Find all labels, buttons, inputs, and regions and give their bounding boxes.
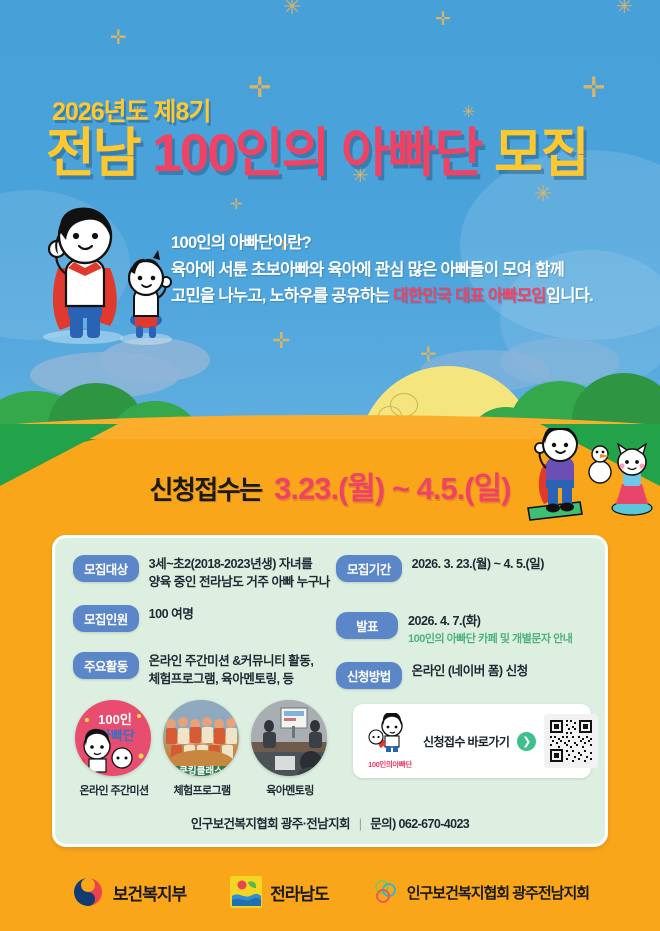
sparkle-icon: ✛: [230, 197, 243, 212]
info-row: 발표 2026. 4. 7.(화) 100인의 아빠단 카페 및 개별문자 안내: [336, 612, 605, 648]
mini-mascot-logo: 100인의아빠단: [365, 713, 415, 770]
info-row: 모집기간 2026. 3. 23.(월) ~ 4. 5.(일): [336, 555, 605, 582]
dad-and-child-icon: [36, 206, 176, 346]
thumbnail-caption: 육아멘토링: [251, 782, 329, 798]
sparkle-icon: ✛: [272, 330, 290, 352]
thumbnail-image-parenting-mentoring[interactable]: [251, 700, 327, 776]
info-label-period: 모집기간: [336, 555, 402, 582]
svg-text:100인: 100인: [98, 712, 132, 727]
info-value-activities: 온라인 주간미션 &커뮤니티 활동, 체험프로그램, 육아멘토링, 등: [149, 652, 314, 689]
info-label-capacity: 모집인원: [73, 605, 139, 632]
card-footer-contact: 인구보건복지협회 광주·전남지회 | 문의) 062-670-4023: [55, 813, 605, 832]
info-column-left: 모집대상 3세~초2(2018-2023년생) 자녀를 양육 중인 전라남도 거…: [55, 555, 330, 702]
apply-link-box[interactable]: 100인의아빠단 신청접수 바로가기 ❯: [353, 704, 591, 778]
sparkle-icon: ✳: [534, 183, 552, 205]
info-row: 모집인원 100 여명: [73, 605, 330, 632]
activity-thumbnails: 100인 아빠단 온라인 주간미션: [75, 700, 329, 798]
logo-jeonnam: 전라남도: [230, 876, 329, 908]
poster-kicker: 2026년도 제8기: [52, 92, 210, 128]
intro-line-2: 육아에 서툰 초보아빠와 육아에 관심 많은 아빠들이 모여 함께: [171, 257, 593, 284]
thumbnail-item[interactable]: 쿠킹클래스 체험프로그램: [163, 700, 241, 798]
hero-illustration: [36, 206, 176, 346]
sparkle-icon: ✛: [582, 74, 605, 102]
organizer-name: 인구보건복지협회 광주·전남지회: [191, 817, 350, 831]
thumbnail-item[interactable]: 육아멘토링: [251, 700, 329, 798]
sparkle-icon: ✳: [283, 0, 301, 18]
info-row: 모집대상 3세~초2(2018-2023년생) 자녀를 양육 중인 전라남도 거…: [73, 555, 330, 592]
logo-label-mohw: 보건복지부: [113, 880, 186, 905]
intro-line-1: 100인의 아빠단이란?: [171, 230, 593, 257]
info-card: 모집대상 3세~초2(2018-2023년생) 자녀를 양육 중인 전라남도 거…: [52, 535, 608, 847]
info-label-activities: 주요활동: [73, 652, 139, 679]
chevron-right-icon[interactable]: ❯: [517, 732, 536, 751]
footer-separator: |: [359, 817, 362, 831]
mini-logo-text: 100인의아빠단: [365, 759, 415, 770]
thumbnail-image-experience-program[interactable]: 쿠킹클래스: [163, 700, 239, 776]
info-row: 신청방법 온라인 (네이버 폼) 신청: [336, 662, 605, 689]
info-label-announcement: 발표: [336, 612, 398, 639]
ppfk-emblem-icon: [373, 879, 399, 905]
announcement-note: 100인의 아빠단 카페 및 개별문자 안내: [408, 632, 572, 648]
application-period-date: 3.23.(월) ~ 4.5.(일): [274, 471, 510, 506]
logo-mohw: 보건복지부: [71, 875, 186, 909]
sparkle-icon: ✛: [248, 74, 271, 102]
thumbnail-item[interactable]: 100인 아빠단 온라인 주간미션: [75, 700, 153, 798]
apply-link-label[interactable]: 신청접수 바로가기: [423, 733, 509, 750]
info-value-announcement: 2026. 4. 7.(화) 100인의 아빠단 카페 및 개별문자 안내: [408, 612, 572, 648]
poster-root: ✛ ✳ ✛ ✳ ✛ ✛ ✳ ✳ ✳ ✛ ✳ ✛ ✛ ✛ ✛ 2026년도 제8기…: [0, 0, 660, 931]
contact-phone: 문의) 062-670-4023: [370, 817, 469, 831]
intro-line-3: 고민을 나누고, 노하우를 공유하는 대한민국 대표 아빠모임입니다.: [171, 283, 593, 310]
title-part-1: 전남: [46, 124, 140, 183]
jeonnam-emblem-icon: [230, 876, 262, 908]
info-value-period: 2026. 3. 23.(월) ~ 4. 5.(일): [412, 555, 544, 573]
application-period-banner: 신청접수는 3.23.(월) ~ 4.5.(일): [0, 463, 660, 508]
thumbnail-image-online-mission[interactable]: 100인 아빠단: [75, 700, 151, 776]
qr-code-icon[interactable]: [544, 714, 598, 768]
intro-text-block: 100인의 아빠단이란? 육아에 서툰 초보아빠와 육아에 관심 많은 아빠들이…: [171, 230, 593, 310]
info-label-target: 모집대상: [73, 555, 139, 582]
application-period-label: 신청접수는: [150, 475, 262, 505]
dad-mascot-icon: [365, 713, 415, 753]
intro-line-3-pre: 고민을 나누고, 노하우를 공유하는: [171, 287, 393, 305]
page-title: 전남 100인의 아빠단 모집: [46, 126, 588, 182]
intro-highlight: 대한민국 대표 아빠모임: [393, 287, 546, 305]
title-part-3: 모집: [494, 124, 588, 183]
info-row: 주요활동 온라인 주간미션 &커뮤니티 활동, 체험프로그램, 육아멘토링, 등: [73, 652, 330, 689]
logo-ppfk: 인구보건복지협회 광주전남지회: [373, 879, 589, 905]
thumbnail-caption: 체험프로그램: [163, 782, 241, 798]
sparkle-icon: ✳: [462, 105, 475, 121]
logo-label-ppfk: 인구보건복지협회 광주전남지회: [407, 882, 589, 903]
info-column-right: 모집기간 2026. 3. 23.(월) ~ 4. 5.(일) 발표 2026.…: [330, 555, 605, 702]
taegeuk-icon: [71, 875, 105, 909]
info-value-method: 온라인 (네이버 폼) 신청: [412, 662, 528, 680]
sparkle-icon: ✛: [435, 10, 451, 29]
footer-logo-bar: 보건복지부 전라남도 인구보건복지협회 광주전남지회: [0, 875, 660, 909]
title-part-2: 100인의 아빠단: [152, 124, 481, 183]
svg-text:쿠킹클래스: 쿠킹클래스: [179, 765, 223, 776]
intro-line-3-post: 입니다.: [546, 287, 593, 305]
info-value-target: 3세~초2(2018-2023년생) 자녀를 양육 중인 전라남도 거주 아빠 …: [149, 555, 330, 592]
sparkle-icon: ✛: [110, 28, 127, 48]
thumbnail-caption: 온라인 주간미션: [75, 782, 153, 798]
info-columns: 모집대상 3세~초2(2018-2023년생) 자녀를 양육 중인 전라남도 거…: [55, 555, 605, 702]
info-value-capacity: 100 여명: [149, 605, 194, 623]
sparkle-icon: ✳: [616, 0, 633, 17]
logo-label-jeonnam: 전라남도: [270, 880, 329, 905]
announcement-date: 2026. 4. 7.(화): [408, 614, 481, 628]
info-label-method: 신청방법: [336, 662, 402, 689]
